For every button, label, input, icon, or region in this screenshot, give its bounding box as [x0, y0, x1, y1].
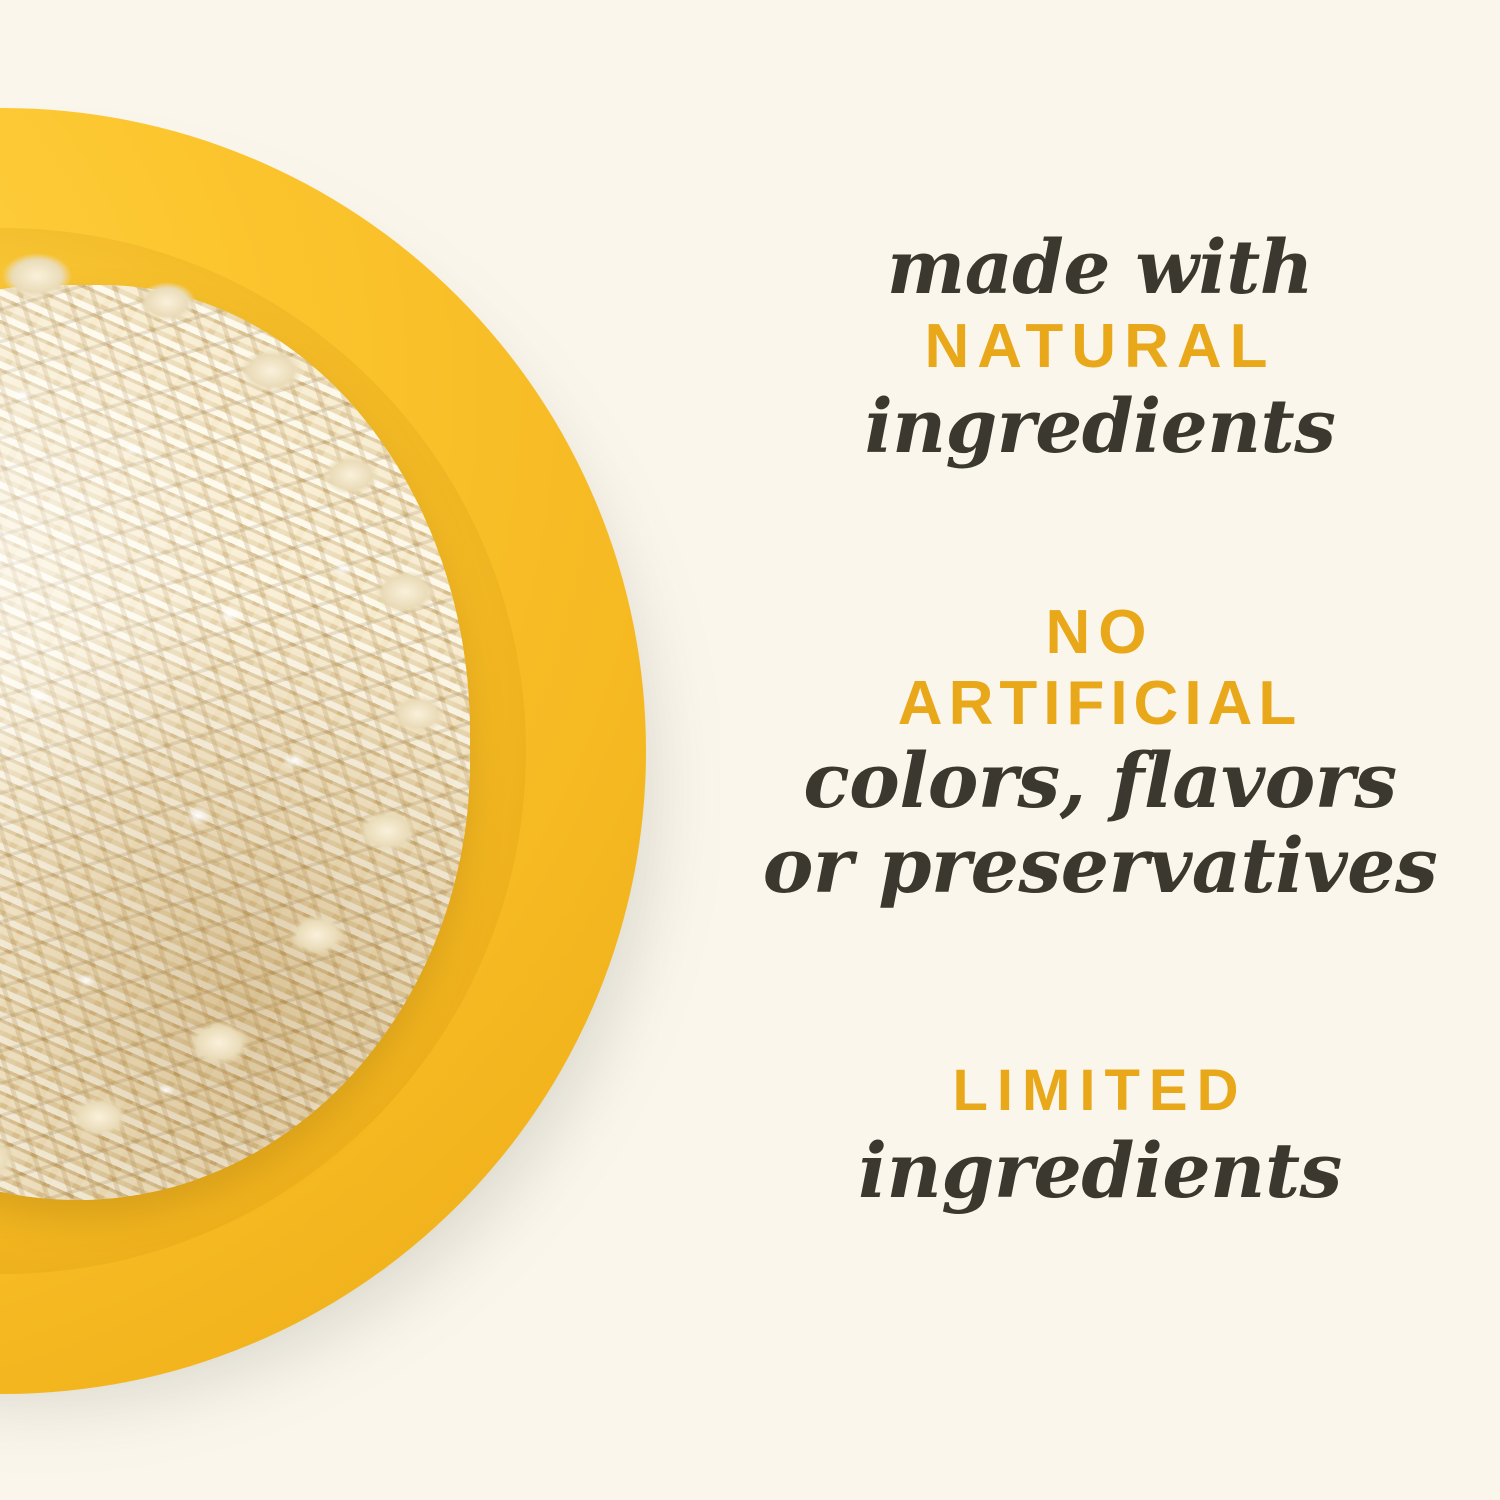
claim-line-no: NO — [700, 598, 1500, 668]
claim-natural-ingredients: made with NATURAL ingredients — [700, 226, 1500, 470]
claim-line-artificial: ARTIFICIAL — [700, 668, 1500, 740]
claim-line-natural: NATURAL — [700, 310, 1500, 384]
marketing-copy: made with NATURAL ingredients NO ARTIFIC… — [700, 0, 1500, 1500]
food-edge-tufts — [0, 263, 492, 1222]
claim-line-ingredients: ingredients — [700, 384, 1500, 470]
product-feature-graphic: made with NATURAL ingredients NO ARTIFIC… — [0, 0, 1500, 1500]
claim-line-made-with: made with — [700, 226, 1500, 310]
product-photo — [0, 0, 720, 1500]
claim-line-ingredients-2: ingredients — [700, 1126, 1500, 1216]
claim-limited-ingredients: LIMITED ingredients — [700, 1056, 1500, 1216]
claim-line-colors-flavors: colors, flavors — [700, 740, 1500, 822]
shredded-chicken-pile — [0, 285, 470, 1200]
claim-line-or-preservatives: or preservatives — [700, 822, 1500, 910]
claim-no-artificial: NO ARTIFICIAL colors, flavors or preserv… — [700, 598, 1500, 910]
claim-line-limited: LIMITED — [700, 1056, 1500, 1126]
